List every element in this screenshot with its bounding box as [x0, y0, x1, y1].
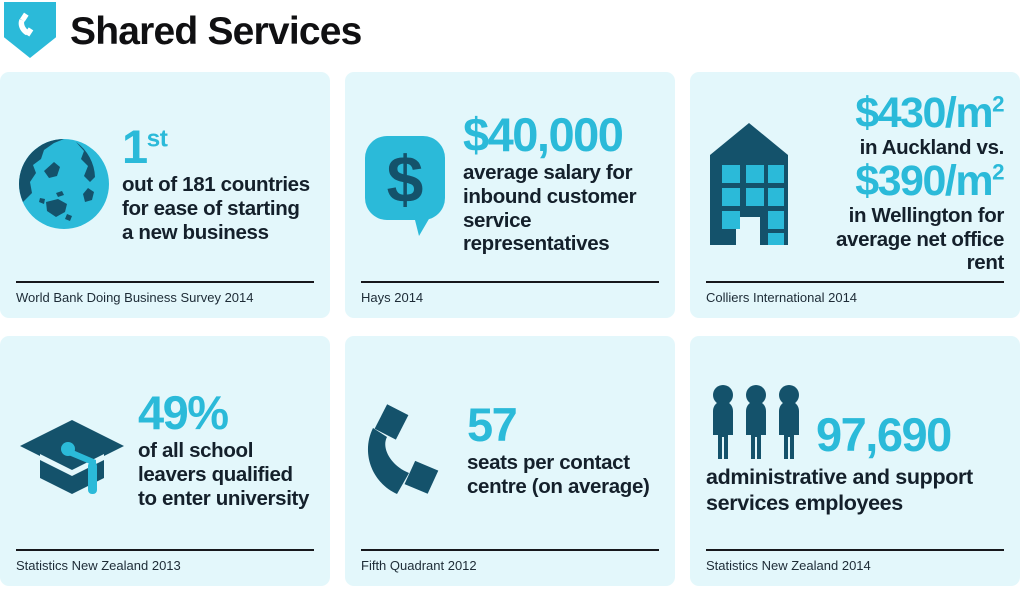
stat-value: 57 [467, 401, 659, 449]
infographic-page: Shared Services [0, 0, 1024, 590]
dollar-speech-bubble-icon: $ [361, 132, 453, 236]
phone-handset-icon [361, 398, 457, 502]
stat-value: $430/m2 [798, 92, 1004, 136]
stat-card-ease-of-business: 1st out of 181 countries for ease of sta… [0, 72, 330, 318]
stats-grid: 1st out of 181 countries for ease of sta… [0, 72, 1024, 586]
stat-text: $430/m2 in Auckland vs. $390/m2 in Welli… [792, 92, 1004, 275]
page-header: Shared Services [0, 0, 1024, 62]
divider [361, 549, 659, 551]
office-building-icon [706, 119, 792, 249]
stat-text: 57 seats per contact centre (on average) [457, 401, 659, 498]
source-label: Colliers International 2014 [706, 290, 1004, 308]
stat-card-school-leavers: 49% of all school leavers qualified to e… [0, 336, 330, 586]
phone-shield-icon [4, 2, 56, 58]
icon-and-stat-row: 97,690 [706, 383, 1004, 461]
stat-suffix: st [147, 125, 168, 152]
divider [16, 549, 314, 551]
stat-card-office-rent: $430/m2 in Auckland vs. $390/m2 in Welli… [690, 72, 1020, 318]
page-title: Shared Services [70, 12, 362, 51]
stat-description-secondary: in Wellington for average net office ren… [798, 204, 1004, 275]
stat-card-seats-per-centre: 57 seats per contact centre (on average)… [345, 336, 675, 586]
stat-text: 49% of all school leavers qualified to e… [128, 389, 314, 510]
phone-glyph [15, 10, 45, 40]
stat-value-secondary: $390/m2 [798, 160, 1004, 204]
stat-value: $40,000 [463, 111, 659, 159]
stat-number: 1 [122, 120, 147, 173]
source-label: Hays 2014 [361, 290, 659, 308]
stat-number: $430/m [855, 89, 992, 137]
stat-description: seats per contact centre (on average) [467, 451, 659, 499]
globe-icon [16, 136, 112, 232]
source-label: Fifth Quadrant 2012 [361, 558, 659, 576]
graduation-cap-icon [16, 402, 128, 498]
stat-suffix: 2 [992, 92, 1004, 117]
stat-card-support-employees: 97,690 administrative and support servic… [690, 336, 1020, 586]
svg-text:$: $ [387, 142, 424, 216]
stat-card-average-salary: $ $40,000 average salary for inbound cus… [345, 72, 675, 318]
stat-description: out of 181 countries for ease of startin… [122, 173, 314, 244]
stat-description: administrative and support services empl… [706, 465, 1004, 517]
divider [706, 549, 1004, 551]
stat-text: 1st out of 181 countries for ease of sta… [112, 123, 314, 244]
stat-number-secondary: $390/m [855, 157, 992, 205]
divider [706, 281, 1004, 283]
source-label: World Bank Doing Business Survey 2014 [16, 290, 314, 308]
divider [361, 281, 659, 283]
divider [16, 281, 314, 283]
source-label: Statistics New Zealand 2013 [16, 558, 314, 576]
stat-value: 1st [122, 123, 314, 171]
stat-suffix-secondary: 2 [992, 160, 1004, 185]
stat-description: average salary for inbound customer serv… [463, 161, 659, 256]
source-label: Statistics New Zealand 2014 [706, 558, 1004, 576]
stat-text: $40,000 average salary for inbound custo… [453, 111, 659, 256]
stat-description: of all school leavers qualified to enter… [138, 439, 314, 510]
stat-value: 97,690 [806, 411, 951, 461]
three-people-icon [706, 383, 806, 461]
stat-value: 49% [138, 389, 314, 437]
